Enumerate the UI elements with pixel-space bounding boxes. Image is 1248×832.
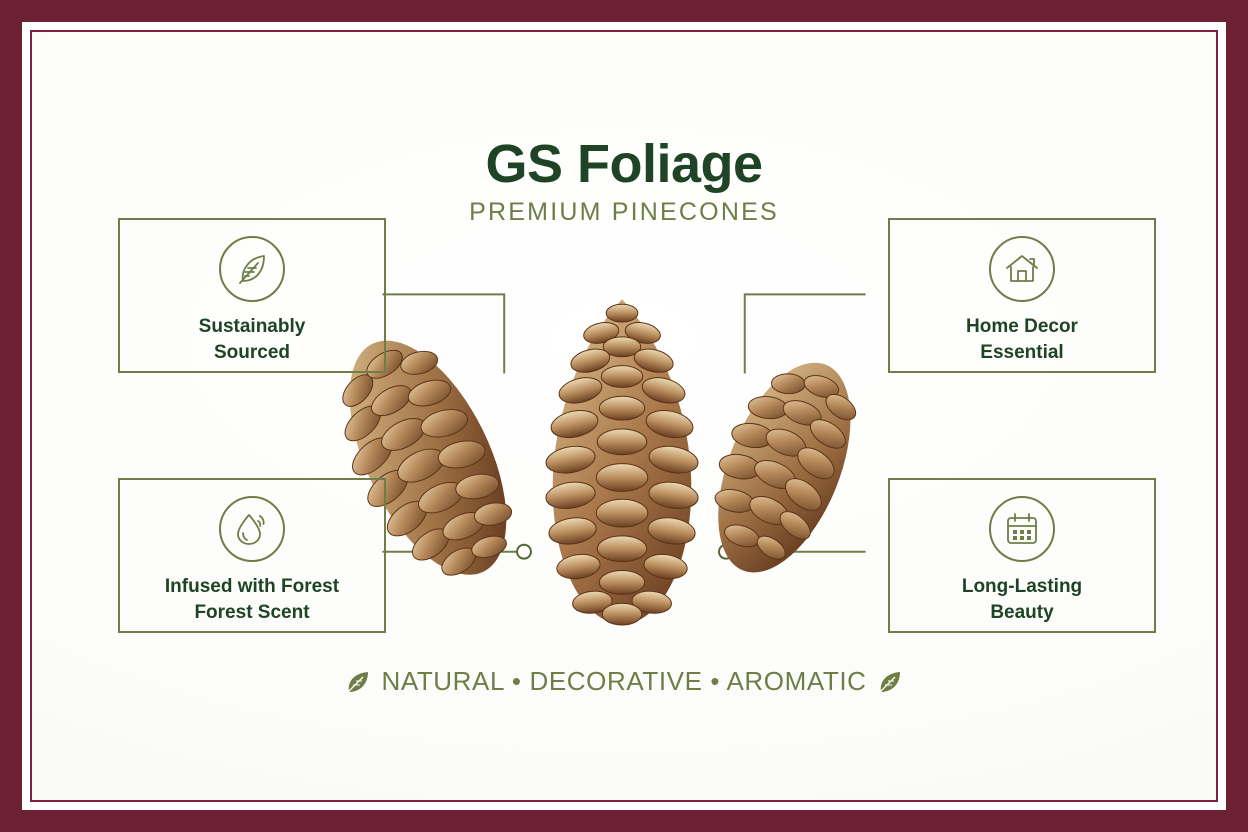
leaf-icon-right (877, 669, 903, 695)
droplet-scent-icon (219, 496, 285, 562)
feature-card-infused-forest-scent[interactable]: Infused with Forest Forest Scent (118, 478, 386, 633)
frame-inner-rule: GS Foliage PREMIUM PINECONES (30, 30, 1218, 802)
house-icon (989, 236, 1055, 302)
pinecone-center (544, 299, 700, 625)
tagline-text: NATURAL • DECORATIVE • AROMATIC (381, 666, 866, 697)
feature-label: Infused with Forest Forest Scent (165, 574, 339, 625)
feature-card-home-decor-essential[interactable]: Home Decor Essential (888, 218, 1156, 373)
pinecone-right (683, 341, 877, 592)
feature-card-long-lasting-beauty[interactable]: Long-Lasting Beauty (888, 478, 1156, 633)
poster-frame: GS Foliage PREMIUM PINECONES (0, 0, 1248, 832)
frame-white-band: GS Foliage PREMIUM PINECONES (22, 22, 1226, 810)
leaf-icon-left (345, 669, 371, 695)
leaf-icon (219, 236, 285, 302)
feature-label: Long-Lasting Beauty (962, 574, 1082, 625)
calendar-icon (989, 496, 1055, 562)
feature-card-sustainably-sourced[interactable]: Sustainably Sourced (118, 218, 386, 373)
feature-label: Home Decor Essential (966, 314, 1078, 365)
feature-label: Sustainably Sourced (199, 314, 306, 365)
tagline: NATURAL • DECORATIVE • AROMATIC (32, 666, 1216, 697)
